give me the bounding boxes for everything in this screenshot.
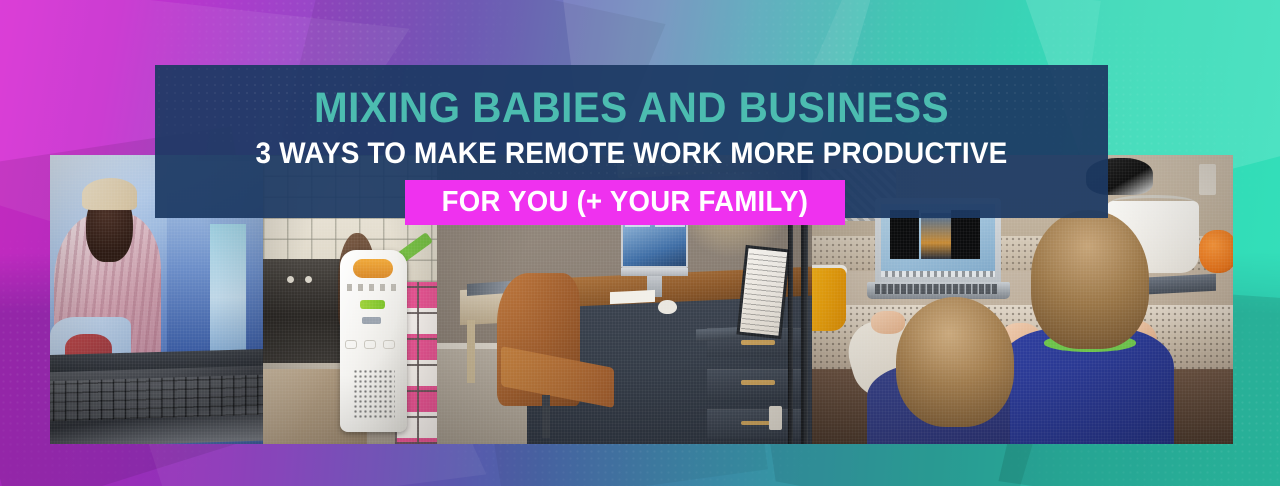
tagline-text: FOR YOU (+ YOUR FAMILY) [442, 188, 809, 217]
blog-header-banner: MIXING BABIES AND BUSINESS 3 WAYS TO MAK… [0, 0, 1280, 486]
headline: MIXING BABIES AND BUSINESS [184, 87, 1080, 130]
subheadline: 3 WAYS TO MAKE REMOTE WORK MORE PRODUCTI… [188, 139, 1074, 169]
tagline-box: FOR YOU (+ YOUR FAMILY) [405, 180, 845, 225]
